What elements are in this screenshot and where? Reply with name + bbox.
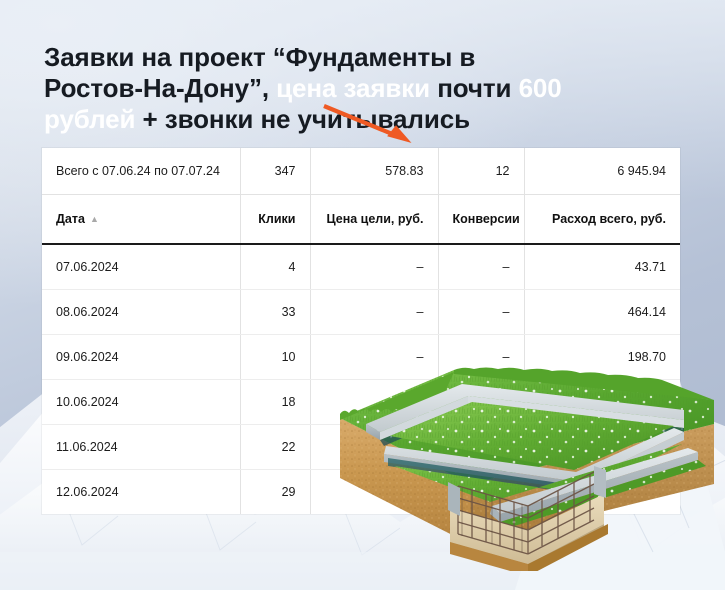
cell-spend: 43.71	[524, 244, 680, 289]
cell-conversions: –	[438, 289, 524, 334]
cell-spend	[524, 469, 680, 514]
table-row: 09.06.2024 10 – – 198.70	[42, 334, 680, 379]
cell-goal-price: –	[310, 334, 438, 379]
table-row: 11.06.2024 22	[42, 424, 680, 469]
cell-clicks: 18	[240, 379, 310, 424]
cell-goal-price	[310, 469, 438, 514]
cell-date: 09.06.2024	[42, 334, 240, 379]
cell-clicks: 22	[240, 424, 310, 469]
cell-clicks: 4	[240, 244, 310, 289]
cell-clicks: 33	[240, 289, 310, 334]
table-row: 08.06.2024 33 – – 464.14	[42, 289, 680, 334]
cell-date: 11.06.2024	[42, 424, 240, 469]
column-header-date-label: Дата	[56, 212, 85, 226]
cell-date: 12.06.2024	[42, 469, 240, 514]
column-header-conversions[interactable]: Конверсии	[438, 194, 524, 244]
table-header-row: Дата▲ Клики Цена цели, руб. Конверсии Ра…	[42, 194, 680, 244]
page-title: Заявки на проект “Фундаменты в Ростов-На…	[44, 42, 664, 135]
cell-date: 07.06.2024	[42, 244, 240, 289]
totals-conversions: 12	[438, 148, 524, 194]
cell-date: 10.06.2024	[42, 379, 240, 424]
cell-conversions	[438, 379, 524, 424]
cell-clicks: 10	[240, 334, 310, 379]
column-header-spend[interactable]: Расход всего, руб.	[524, 194, 680, 244]
cell-goal-price: –	[310, 289, 438, 334]
headline-line-3-dark: + звонки не учитывались	[135, 104, 470, 134]
totals-spend: 6 945.94	[524, 148, 680, 194]
cell-conversions: –	[438, 334, 524, 379]
cell-goal-price	[310, 424, 438, 469]
column-header-date[interactable]: Дата▲	[42, 194, 240, 244]
cell-spend	[524, 424, 680, 469]
cell-goal-price: –	[310, 244, 438, 289]
totals-clicks: 347	[240, 148, 310, 194]
headline-line-3-white: рублей	[44, 104, 135, 134]
headline-line-2-white-a: цена заявки	[276, 73, 437, 103]
sort-ascending-icon[interactable]: ▲	[90, 214, 99, 224]
cell-conversions	[438, 424, 524, 469]
headline-line-1: Заявки на проект “Фундаменты в	[44, 42, 475, 72]
headline-line-2-white-b: 600	[519, 73, 562, 103]
cell-conversions: –	[438, 244, 524, 289]
column-header-goal-price[interactable]: Цена цели, руб.	[310, 194, 438, 244]
totals-goal-price: 578.83	[310, 148, 438, 194]
table-row: 07.06.2024 4 – – 43.71	[42, 244, 680, 289]
cell-clicks: 29	[240, 469, 310, 514]
cell-spend: 464.14	[524, 289, 680, 334]
cell-date: 08.06.2024	[42, 289, 240, 334]
table-totals-row: Всего с 07.06.24 по 07.07.24 347 578.83 …	[42, 148, 680, 194]
cell-conversions	[438, 469, 524, 514]
table-row: 10.06.2024 18 –	[42, 379, 680, 424]
table-row: 12.06.2024 29	[42, 469, 680, 514]
cell-spend: 198.70	[524, 334, 680, 379]
totals-label: Всего с 07.06.24 по 07.07.24	[42, 148, 240, 194]
headline-line-2-dark-a: Ростов-На-Дону”,	[44, 73, 276, 103]
cell-spend	[524, 379, 680, 424]
cell-goal-price: –	[310, 379, 438, 424]
headline-line-2-dark-b: почти	[437, 73, 518, 103]
metrics-report-table: Всего с 07.06.24 по 07.07.24 347 578.83 …	[42, 148, 680, 514]
column-header-clicks[interactable]: Клики	[240, 194, 310, 244]
